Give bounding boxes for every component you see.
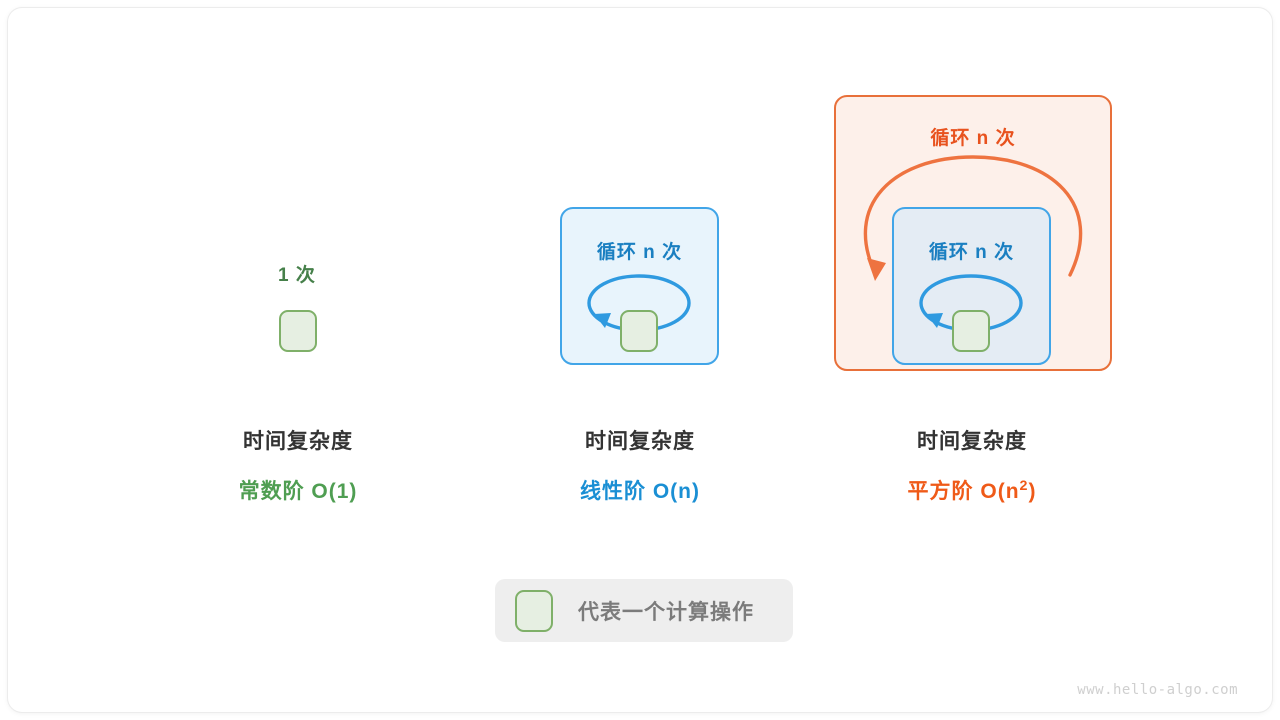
column-constant: 1 次 时间复杂度 常数阶 O(1) bbox=[128, 0, 468, 530]
caption-title: 时间复杂度 bbox=[802, 425, 1142, 455]
constant-count-label: 1 次 bbox=[278, 260, 316, 287]
complexity-name: 常数阶 bbox=[239, 480, 312, 503]
operation-box bbox=[620, 310, 658, 352]
watermark: www.hello-algo.com bbox=[1077, 682, 1238, 698]
operation-box bbox=[279, 310, 317, 352]
legend-label: 代表一个计算操作 bbox=[578, 596, 754, 626]
loop-label: 循环 n 次 bbox=[894, 237, 1049, 264]
complexity-name: 平方阶 bbox=[908, 480, 981, 503]
diagram-canvas: 1 次 时间复杂度 常数阶 O(1) 循环 n 次 时间复杂度 线 bbox=[0, 0, 1280, 720]
linear-art: 循环 n 次 bbox=[470, 85, 810, 375]
complexity-order-base: O(n bbox=[980, 480, 1019, 503]
quadratic-art: 循环 n 次 循环 n 次 bbox=[802, 85, 1142, 375]
complexity-order: O(1) bbox=[311, 480, 357, 503]
column-linear: 循环 n 次 时间复杂度 线性阶 O(n) bbox=[470, 0, 810, 530]
complexity-order-close: ) bbox=[1028, 480, 1036, 503]
legend: 代表一个计算操作 bbox=[495, 579, 793, 642]
loop-label: 循环 n 次 bbox=[836, 123, 1110, 150]
caption-value: 常数阶 O(1) bbox=[128, 475, 468, 505]
operation-box bbox=[952, 310, 990, 352]
caption-constant: 时间复杂度 常数阶 O(1) bbox=[128, 425, 468, 505]
caption-value: 线性阶 O(n) bbox=[470, 475, 810, 505]
caption-value: 平方阶 O(n2) bbox=[802, 475, 1142, 505]
legend-operation-box-swatch bbox=[515, 590, 553, 632]
constant-art: 1 次 bbox=[128, 85, 468, 375]
caption-quadratic: 时间复杂度 平方阶 O(n2) bbox=[802, 425, 1142, 505]
loop-label: 循环 n 次 bbox=[562, 237, 717, 264]
complexity-order: O(n) bbox=[653, 480, 700, 503]
caption-title: 时间复杂度 bbox=[470, 425, 810, 455]
caption-title: 时间复杂度 bbox=[128, 425, 468, 455]
caption-linear: 时间复杂度 线性阶 O(n) bbox=[470, 425, 810, 505]
complexity-name: 线性阶 bbox=[580, 480, 653, 503]
column-quadratic: 循环 n 次 循环 n 次 时间复杂度 平方阶 O(n2) bbox=[802, 0, 1142, 530]
